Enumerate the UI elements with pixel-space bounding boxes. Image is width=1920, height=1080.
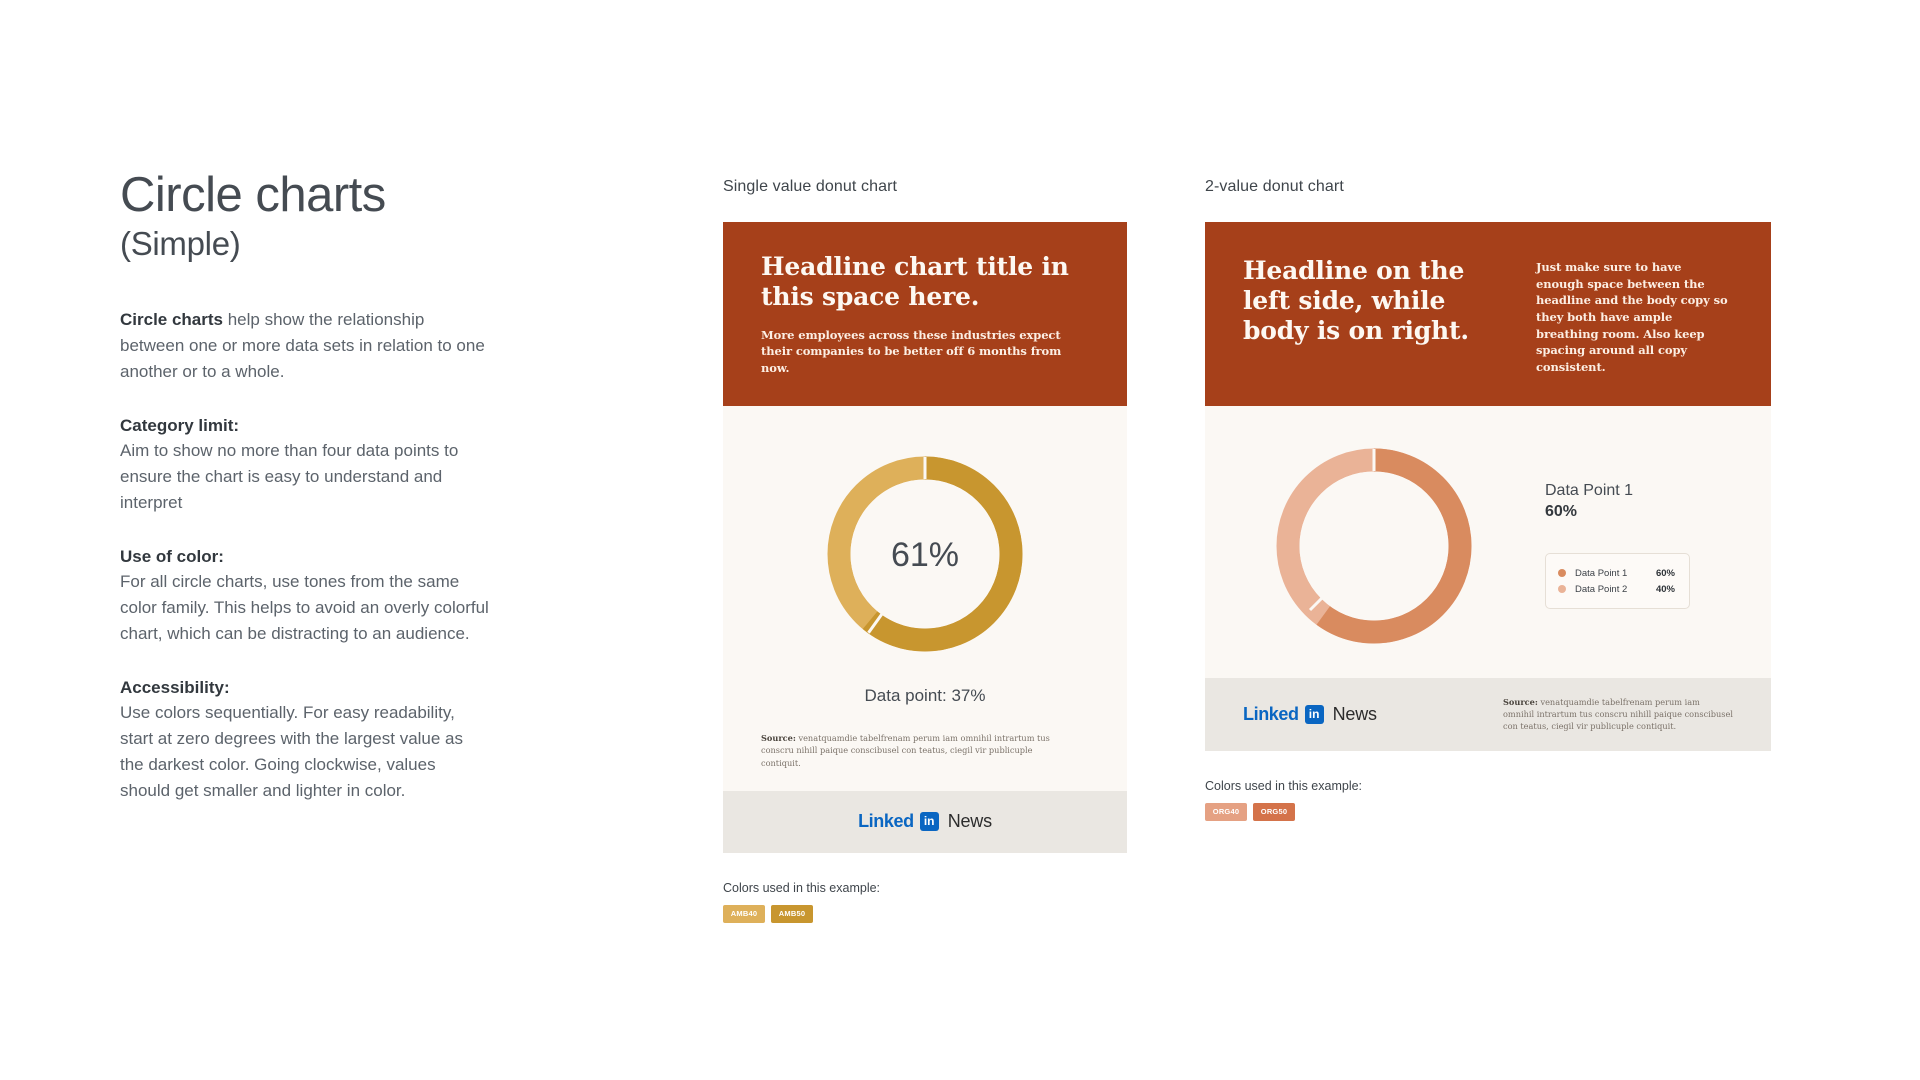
swatch-list: AMB40 AMB50 xyxy=(723,905,1127,923)
chart-headline: Headline on the left side, while body is… xyxy=(1243,256,1508,346)
chart-card-header: Headline chart title in this space here.… xyxy=(723,222,1127,406)
section-use-of-color: Use of color: For all circle charts, use… xyxy=(120,544,490,647)
slide-page: Circle charts (Simple) Circle charts hel… xyxy=(0,0,1920,1080)
chart-card-body: Data Point 1 60% Data Point 1 60% Data P… xyxy=(1205,406,1771,678)
linkedin-in-icon: in xyxy=(920,812,939,831)
linkedin-news-logo: Linked in News xyxy=(858,811,992,832)
chart-card-footer: Linked in News Source: venatquamdie tabe… xyxy=(1205,678,1771,751)
legend-color-dot-icon xyxy=(1558,585,1566,593)
colors-used-label: Colors used in this example: xyxy=(1205,779,1771,793)
example-label: 2-value donut chart xyxy=(1205,178,1771,196)
chart-headline: Headline chart title in this space here. xyxy=(761,252,1089,311)
section-body: Use colors sequentially. For easy readab… xyxy=(120,700,490,803)
news-wordmark: News xyxy=(948,811,992,832)
color-swatch: ORG40 xyxy=(1205,803,1247,821)
donut-chart-1: 61% xyxy=(723,448,1127,660)
color-swatch: AMB40 xyxy=(723,905,765,923)
colors-used-block-2: Colors used in this example: ORG40 ORG50 xyxy=(1205,779,1771,821)
side-data-point-title: Data Point 1 xyxy=(1545,482,1731,500)
section-category-limit: Category limit: Aim to show no more than… xyxy=(120,413,490,516)
two-value-donut-example: 2-value donut chart Headline on the left… xyxy=(1205,178,1771,821)
legend-color-dot-icon xyxy=(1558,569,1566,577)
source-note: Source: venatquamdie tabelfrenam perum i… xyxy=(1503,696,1733,733)
news-wordmark: News xyxy=(1333,704,1377,725)
donut-side-panel: Data Point 1 60% Data Point 1 60% Data P… xyxy=(1535,482,1771,609)
section-heading: Accessibility: xyxy=(120,675,490,701)
legend-label: Data Point 1 xyxy=(1575,568,1656,579)
donut-svg xyxy=(1268,440,1480,652)
source-note: Source: venatquamdie tabelfrenam perum i… xyxy=(761,732,1061,769)
page-subtitle: (Simple) xyxy=(120,225,490,263)
legend-item: Data Point 2 40% xyxy=(1558,581,1675,597)
chart-legend: Data Point 1 60% Data Point 2 40% xyxy=(1545,553,1690,609)
source-label: Source: xyxy=(1503,697,1538,707)
explainer-column: Circle charts (Simple) Circle charts hel… xyxy=(120,170,490,804)
section-body: Aim to show no more than four data point… xyxy=(120,438,490,515)
data-point-caption: Data point: 37% xyxy=(723,686,1127,706)
source-text: venatquamdie tabelfrenam perum iam omnih… xyxy=(1503,697,1733,732)
source-label: Source: xyxy=(761,733,796,743)
linkedin-wordmark: Linked xyxy=(1243,704,1299,725)
linkedin-news-logo: Linked in News xyxy=(1243,704,1377,725)
chart-card-header: Headline on the left side, while body is… xyxy=(1205,222,1771,406)
section-heading: Use of color: xyxy=(120,544,490,570)
chart-card-footer: Linked in News xyxy=(723,791,1127,853)
section-body: For all circle charts, use tones from th… xyxy=(120,569,490,646)
source-text: venatquamdie tabelfrenam perum iam omnih… xyxy=(761,733,1050,768)
intro-lead-in: Circle charts xyxy=(120,310,223,329)
donut-svg: 61% xyxy=(819,448,1031,660)
donut-center-value: 61% xyxy=(891,536,959,574)
chart-card: Headline chart title in this space here.… xyxy=(723,222,1127,853)
chart-card-body: 61% Data point: 37% Source: venatquamdie… xyxy=(723,406,1127,791)
intro-paragraph: Circle charts help show the relationship… xyxy=(120,307,490,384)
example-label: Single value donut chart xyxy=(723,178,1127,196)
legend-item: Data Point 1 60% xyxy=(1558,565,1675,581)
section-heading: Category limit: xyxy=(120,413,490,439)
single-value-donut-example: Single value donut chart Headline chart … xyxy=(723,178,1127,923)
side-data-point-value: 60% xyxy=(1545,503,1731,521)
legend-label: Data Point 2 xyxy=(1575,584,1656,595)
legend-value: 40% xyxy=(1656,584,1675,595)
section-accessibility: Accessibility: Use colors sequentially. … xyxy=(120,675,490,804)
chart-subheadline: More employees across these industries e… xyxy=(761,327,1089,376)
colors-used-label: Colors used in this example: xyxy=(723,881,1127,895)
chart-body-copy: Just make sure to have enough space betw… xyxy=(1536,256,1731,376)
color-swatch: ORG50 xyxy=(1253,803,1295,821)
page-title: Circle charts xyxy=(120,170,490,221)
chart-card: Headline on the left side, while body is… xyxy=(1205,222,1771,751)
linkedin-wordmark: Linked xyxy=(858,811,914,832)
colors-used-block-1: Colors used in this example: AMB40 AMB50 xyxy=(723,881,1127,923)
legend-value: 60% xyxy=(1656,568,1675,579)
color-swatch: AMB50 xyxy=(771,905,813,923)
donut-chart-2 xyxy=(1205,440,1535,652)
linkedin-in-icon: in xyxy=(1305,705,1324,724)
swatch-list: ORG40 ORG50 xyxy=(1205,803,1771,821)
